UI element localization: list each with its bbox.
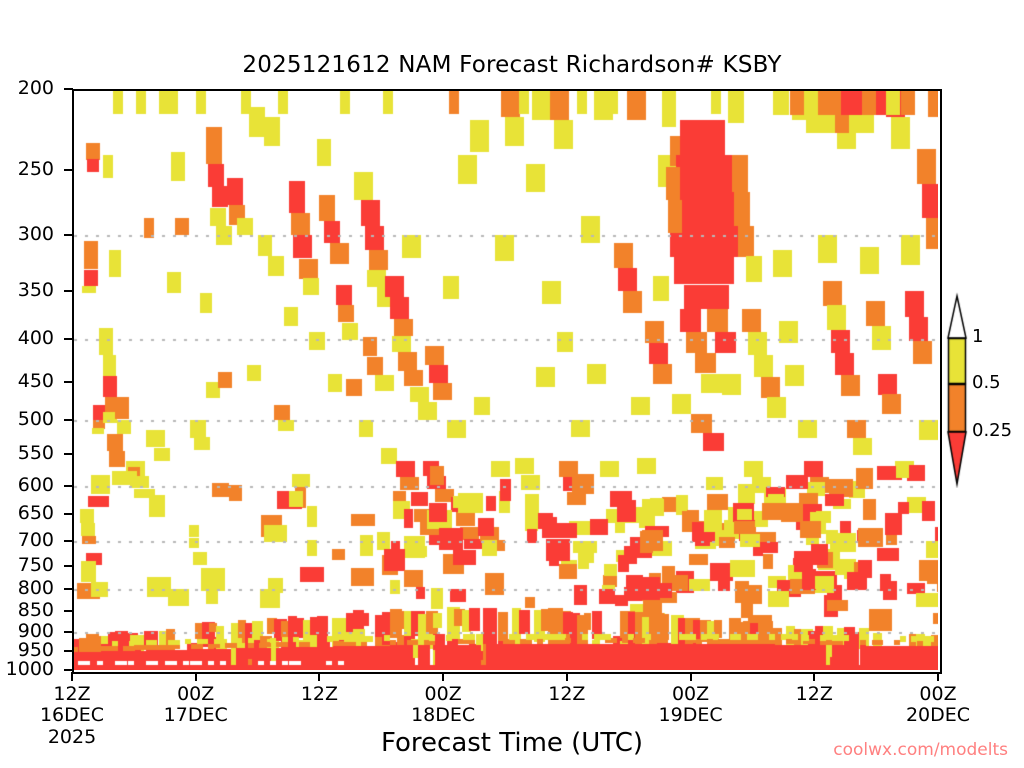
x-tick-label-line: 19DEC	[631, 705, 751, 726]
y-tick-label: 350	[18, 281, 54, 300]
y-tick-mark	[64, 610, 73, 612]
y-tick-label: 900	[18, 622, 54, 641]
y-tick-label: 650	[18, 504, 54, 523]
chart-page: 2025121612 NAM Forecast Richardson# KSBY…	[0, 0, 1024, 768]
colorbar-tick-label: 0.25	[972, 422, 1012, 440]
y-tick-label: 750	[18, 556, 54, 575]
x-tick-label-line: 12Z	[12, 684, 132, 705]
y-tick-label: 450	[18, 372, 54, 391]
y-tick-mark	[64, 88, 73, 90]
y-tick-label: 300	[18, 225, 54, 244]
x-tick-label-line: 18DEC	[383, 705, 503, 726]
x-tick-mark	[566, 672, 568, 681]
colorbar-tick-label: 1	[972, 328, 983, 346]
x-tick-label: 12Z	[259, 684, 379, 705]
y-tick-mark	[64, 453, 73, 455]
y-tick-mark	[64, 565, 73, 567]
y-tick-label: 400	[18, 329, 54, 348]
x-tick-label: 12Z	[754, 684, 874, 705]
y-tick-mark	[64, 419, 73, 421]
x-tick-mark	[71, 672, 73, 681]
x-tick-label-line: 00Z	[136, 684, 256, 705]
x-tick-label: 00Z19DEC	[631, 684, 751, 727]
y-tick-label: 1000	[6, 660, 54, 679]
y-tick-mark	[64, 338, 73, 340]
x-tick-mark	[937, 672, 939, 681]
x-tick-label-line: 17DEC	[136, 705, 256, 726]
colorbar-tick-label: 0.5	[972, 374, 1001, 392]
x-tick-label-line: 00Z	[878, 684, 998, 705]
y-tick-label: 850	[18, 601, 54, 620]
y-tick-mark	[64, 169, 73, 171]
y-tick-mark	[64, 588, 73, 590]
x-tick-label: 12Z	[507, 684, 627, 705]
watermark: coolwx.com/modelts	[833, 740, 1008, 760]
x-tick-label-line: 20DEC	[878, 705, 998, 726]
page-title: 2025121612 NAM Forecast Richardson# KSBY	[0, 52, 1024, 78]
x-tick-label-line: 12Z	[259, 684, 379, 705]
y-tick-mark	[64, 513, 73, 515]
y-tick-label: 250	[18, 160, 54, 179]
y-tick-mark	[64, 485, 73, 487]
y-tick-label: 550	[18, 444, 54, 463]
x-tick-label-line: 16DEC	[12, 705, 132, 726]
x-tick-mark	[690, 672, 692, 681]
x-tick-label: 00Z18DEC	[383, 684, 503, 727]
x-tick-label: 00Z20DEC	[878, 684, 998, 727]
y-tick-mark	[64, 290, 73, 292]
x-tick-mark	[813, 672, 815, 681]
x-tick-mark	[318, 672, 320, 681]
y-tick-mark	[64, 631, 73, 633]
x-tick-label-line: 12Z	[754, 684, 874, 705]
y-tick-mark	[64, 234, 73, 236]
y-tick-label: 700	[18, 531, 54, 550]
y-tick-label: 800	[18, 579, 54, 598]
richardson-heatmap	[72, 89, 938, 670]
x-tick-label-line: 00Z	[383, 684, 503, 705]
y-tick-mark	[64, 540, 73, 542]
y-tick-mark	[64, 381, 73, 383]
y-axis: 2002503003504004505005506006507007508008…	[0, 0, 66, 768]
y-tick-label: 200	[18, 79, 54, 98]
x-tick-mark	[195, 672, 197, 681]
x-tick-label: 00Z17DEC	[136, 684, 256, 727]
y-tick-label: 600	[18, 476, 54, 495]
y-tick-label: 500	[18, 410, 54, 429]
x-tick-label-line: 00Z	[631, 684, 751, 705]
y-tick-mark	[64, 669, 73, 671]
x-tick-label-line: 12Z	[507, 684, 627, 705]
y-tick-mark	[64, 650, 73, 652]
x-tick-mark	[442, 672, 444, 681]
